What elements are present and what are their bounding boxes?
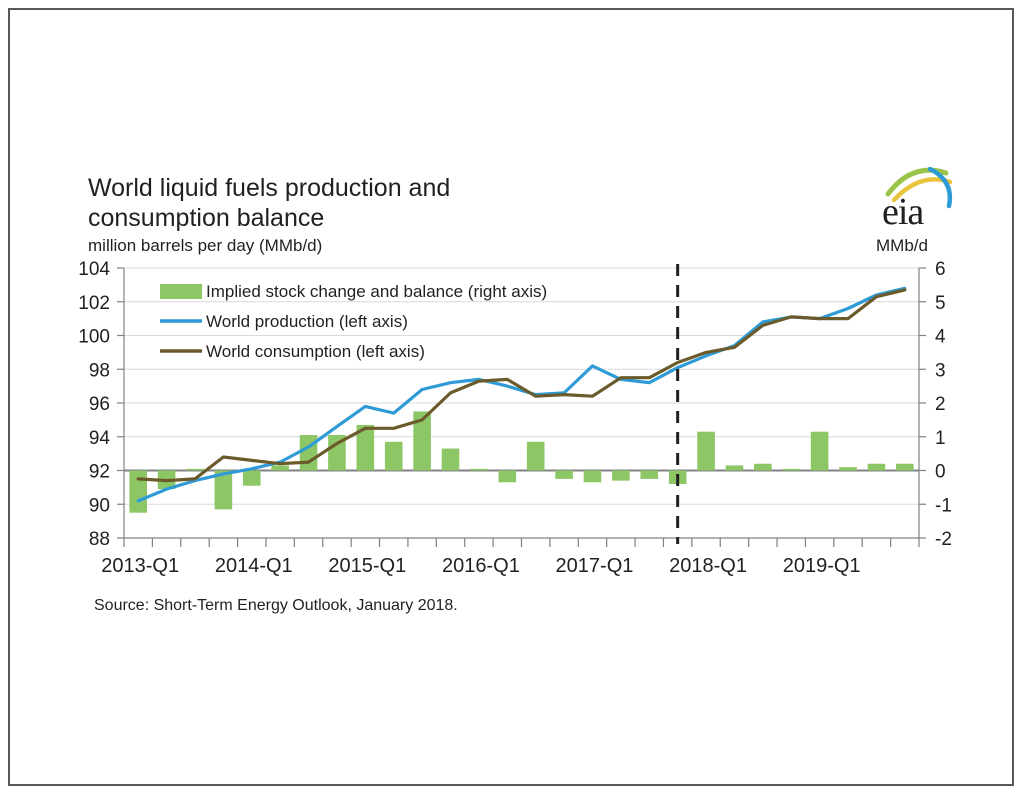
bar-implied-stock-change	[697, 432, 715, 471]
bar-implied-stock-change	[811, 432, 829, 471]
y2-axis-tick-label: 4	[935, 327, 946, 348]
chart-canvas: World liquid fuels production and consum…	[10, 10, 1016, 788]
bar-implied-stock-change	[555, 471, 573, 479]
bar-implied-stock-change	[584, 471, 602, 483]
y-axis-tick-label: 104	[78, 259, 110, 280]
bar-implied-stock-change	[754, 464, 772, 471]
right-axis-unit-label: MMb/d	[876, 236, 928, 255]
x-axis-tick-label: 2014-Q1	[215, 555, 293, 577]
figure-frame: World liquid fuels production and consum…	[8, 8, 1014, 786]
y2-axis-tick-label: 1	[935, 428, 946, 449]
source-note: Source: Short-Term Energy Outlook, Janua…	[94, 597, 458, 614]
y2-axis-tick-label: -2	[935, 529, 952, 550]
legend-world-consumption: World consumption (left axis)	[206, 342, 425, 361]
eia-logo-text: eia	[882, 191, 924, 233]
chart-legend: Implied stock change and balance (right …	[160, 282, 547, 361]
legend-implied-stock-change: Implied stock change and balance (right …	[206, 282, 547, 301]
y-axis-tick-label: 88	[89, 529, 110, 550]
bar-implied-stock-change	[782, 469, 800, 471]
y2-axis-tick-label: 0	[935, 462, 946, 483]
bar-implied-stock-change	[612, 471, 630, 481]
y-axis-tick-label: 102	[78, 293, 110, 314]
y-axis-tick-label: 94	[89, 428, 111, 449]
bar-implied-stock-change	[385, 442, 403, 471]
legend-world-production: World production (left axis)	[206, 312, 408, 331]
chart-subtitle: million barrels per day (MMb/d)	[88, 236, 322, 255]
chart-title-line-1: World liquid fuels production and	[88, 174, 450, 202]
bar-implied-stock-change	[896, 464, 914, 471]
bar-implied-stock-change	[470, 469, 488, 471]
legend-swatch-bar	[160, 284, 202, 299]
bar-implied-stock-change	[129, 471, 147, 513]
x-axis-tick-label: 2013-Q1	[101, 555, 179, 577]
bar-implied-stock-change	[442, 449, 460, 471]
x-axis-tick-label: 2016-Q1	[442, 555, 520, 577]
y-axis-tick-label: 90	[89, 495, 110, 516]
y2-axis-tick-label: -1	[935, 495, 952, 516]
bar-implied-stock-change	[527, 442, 545, 471]
plot-area: 889092949698100102104-2-101234562013-Q12…	[78, 259, 952, 577]
y2-axis-tick-label: 5	[935, 293, 946, 314]
chart-title-line-2: consumption balance	[88, 204, 324, 232]
bar-implied-stock-change	[640, 471, 658, 479]
y-axis-tick-label: 96	[89, 394, 110, 415]
y-axis-tick-label: 100	[78, 327, 110, 348]
y-axis-tick-label: 98	[89, 360, 110, 381]
y2-axis-tick-label: 2	[935, 394, 946, 415]
y2-axis-tick-label: 6	[935, 259, 946, 280]
y-axis-tick-label: 92	[89, 462, 110, 483]
eia-logo: eia	[882, 169, 950, 233]
x-axis-tick-label: 2015-Q1	[328, 555, 406, 577]
x-axis-tick-label: 2019-Q1	[783, 555, 861, 577]
bar-implied-stock-change	[726, 465, 744, 470]
bar-implied-stock-change	[243, 471, 261, 486]
bar-implied-stock-change	[186, 469, 204, 471]
bar-implied-stock-change	[300, 435, 318, 470]
bar-implied-stock-change	[271, 465, 289, 470]
bar-implied-stock-change	[499, 471, 517, 483]
y2-axis-tick-label: 3	[935, 360, 946, 381]
x-axis-tick-label: 2018-Q1	[669, 555, 747, 577]
x-axis-tick-label: 2017-Q1	[556, 555, 634, 577]
bar-implied-stock-change	[839, 467, 857, 470]
bar-implied-stock-change	[868, 464, 886, 471]
